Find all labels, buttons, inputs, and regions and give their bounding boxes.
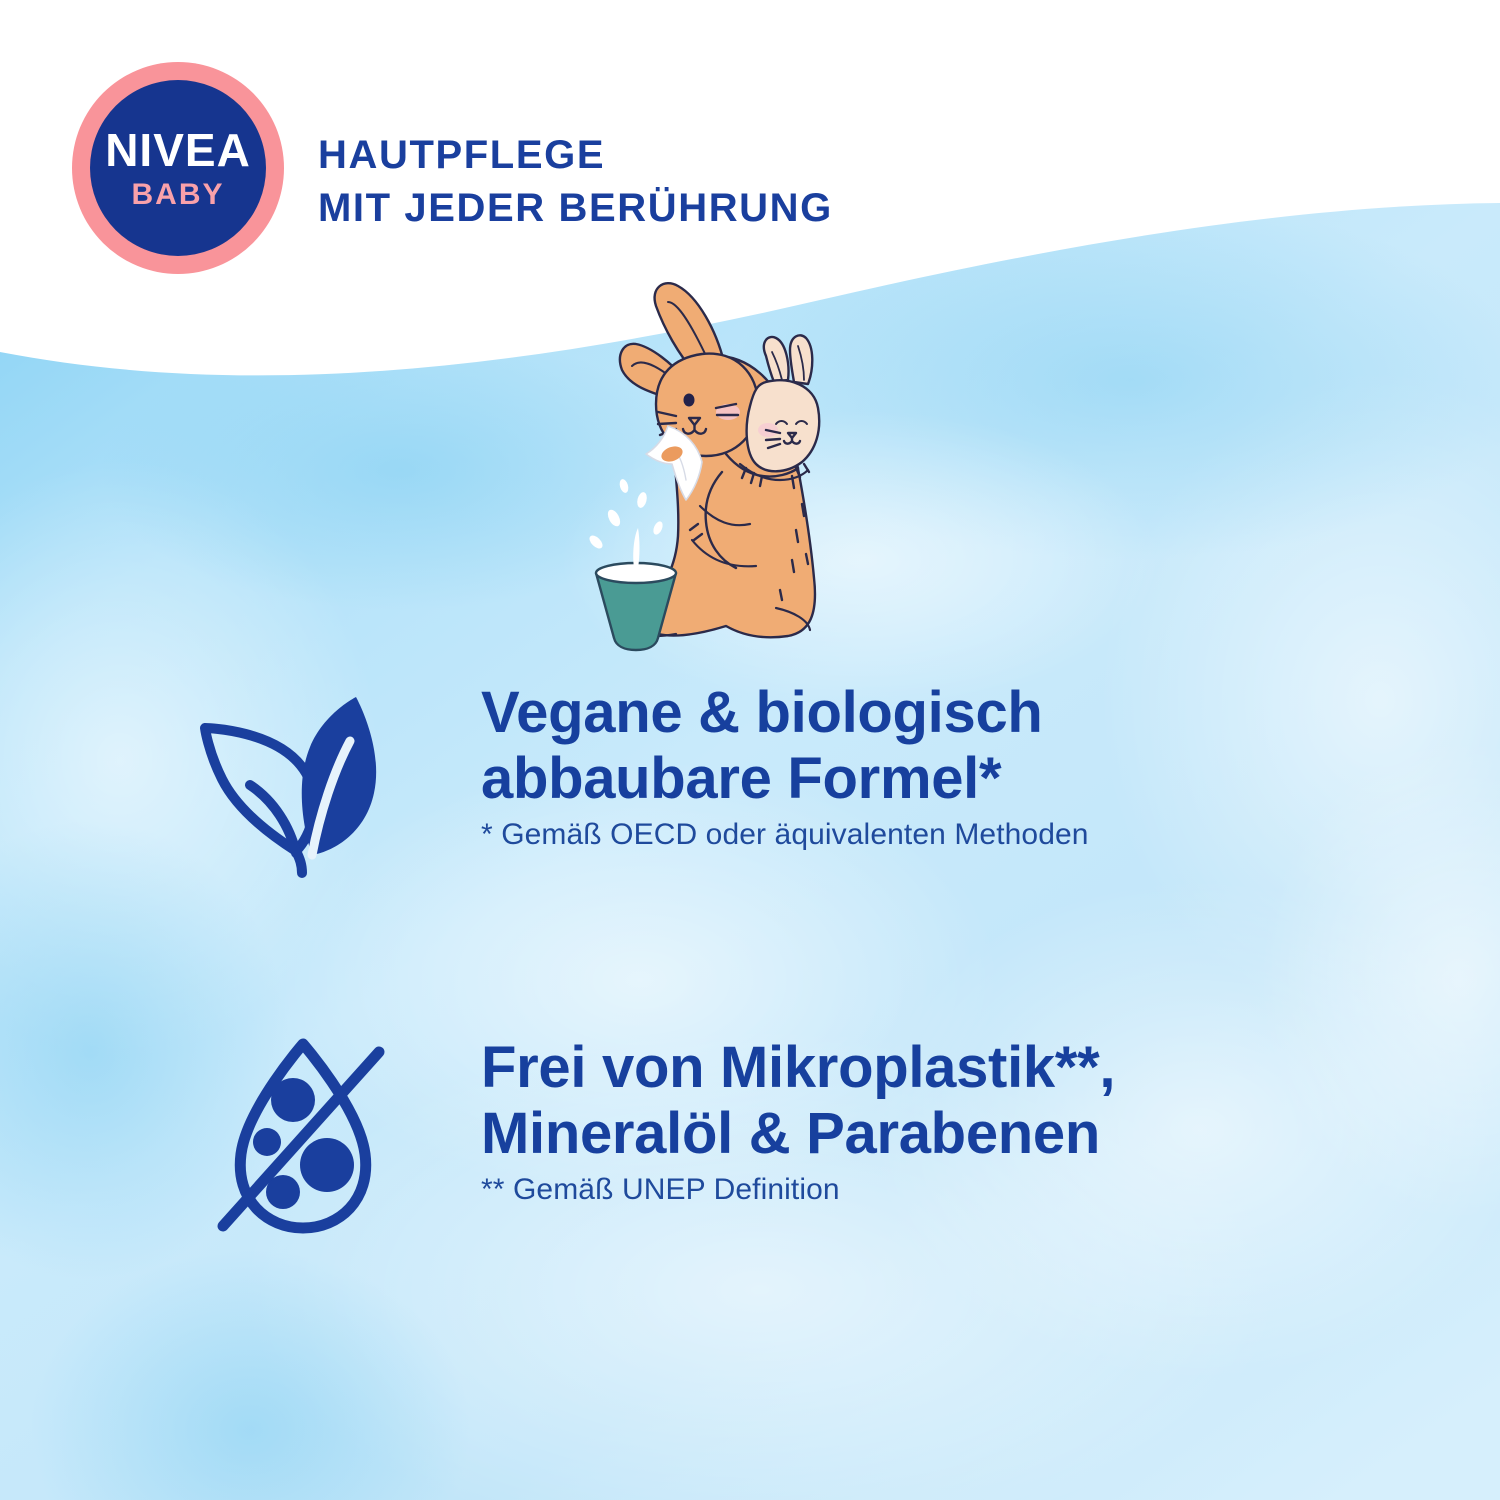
benefit-2-title-line2: Mineralöl & Parabenen: [481, 1101, 1100, 1166]
header: NIVEA BABY HAUTPFLEGE MIT JEDER BERÜHRUN…: [0, 0, 1500, 300]
logo-disc: NIVEA BABY: [90, 80, 266, 256]
page-title-line1: HAUTPFLEGE: [318, 133, 605, 177]
benefit-1-title: Vegane & biologisch abbaubare Formel*: [481, 680, 1381, 812]
leaf-icon-wrap: [188, 685, 403, 880]
nivea-baby-logo: NIVEA BABY: [72, 62, 284, 274]
logo-brand-name: NIVEA: [105, 127, 251, 173]
benefit-1-title-line2: abbaubare Formel*: [481, 746, 1001, 811]
logo-brand-sub: BABY: [131, 180, 224, 210]
water-bucket: [596, 563, 676, 650]
particle-2: [253, 1128, 281, 1156]
page-title-line2: MIT JEDER BERÜHRUNG: [318, 182, 833, 235]
particle-3: [300, 1138, 354, 1192]
page-title: HAUTPFLEGE MIT JEDER BERÜHRUNG: [318, 129, 833, 235]
benefit-1-title-line1: Vegane & biologisch: [481, 680, 1043, 745]
particle-1: [271, 1078, 315, 1122]
benefit-2-texts: Frei von Mikroplastik**, Mineralöl & Par…: [481, 1035, 1381, 1207]
benefit-2-title-line1: Frei von Mikroplastik**,: [481, 1035, 1115, 1100]
benefit-1-texts: Vegane & biologisch abbaubare Formel* * …: [481, 680, 1381, 852]
no-microplastic-droplet-icon: [195, 1030, 410, 1245]
benefit-2-footnote: ** Gemäß UNEP Definition: [481, 1173, 1381, 1207]
leaf-icon: [188, 685, 403, 880]
benefit-2-title: Frei von Mikroplastik**, Mineralöl & Par…: [481, 1035, 1381, 1167]
rabbit-illustration: [580, 278, 870, 668]
promo-banner: NIVEA BABY HAUTPFLEGE MIT JEDER BERÜHRUN…: [0, 0, 1500, 1500]
baby-body: [747, 380, 820, 471]
droplet-icon-wrap: [195, 1030, 410, 1245]
water-splash: [587, 478, 664, 568]
benefit-1-footnote: * Gemäß OECD oder äquivalenten Methoden: [481, 818, 1381, 852]
